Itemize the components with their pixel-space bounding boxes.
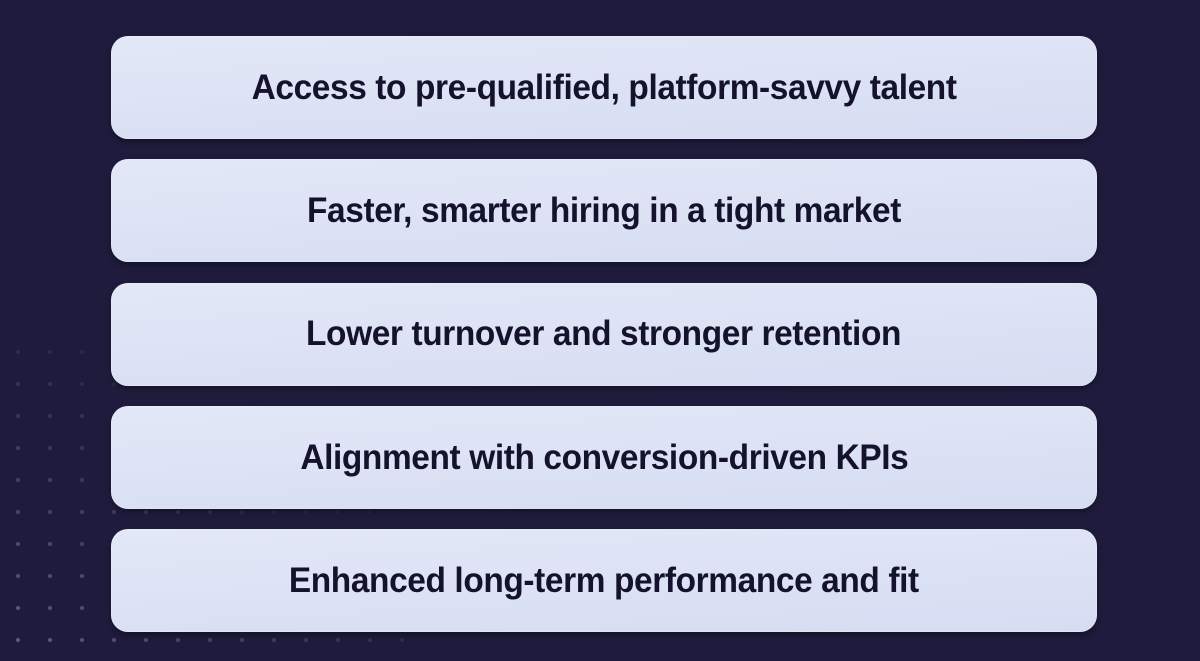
benefit-label-4: Alignment with conversion-driven KPIs — [300, 439, 908, 476]
benefit-label-3: Lower turnover and stronger retention — [306, 315, 901, 352]
benefits-slide: Access to pre-qualified, platform-savvy … — [0, 0, 1200, 661]
benefit-card-2[interactable]: Faster, smarter hiring in a tight market — [111, 159, 1097, 262]
benefit-label-5: Enhanced long-term performance and fit — [289, 562, 919, 599]
benefit-card-1[interactable]: Access to pre-qualified, platform-savvy … — [111, 36, 1097, 139]
benefit-card-3[interactable]: Lower turnover and stronger retention — [111, 283, 1097, 386]
benefit-label-2: Faster, smarter hiring in a tight market — [307, 192, 901, 229]
benefit-label-1: Access to pre-qualified, platform-savvy … — [252, 69, 957, 106]
benefit-card-5[interactable]: Enhanced long-term performance and fit — [111, 529, 1097, 632]
benefit-card-4[interactable]: Alignment with conversion-driven KPIs — [111, 406, 1097, 509]
benefits-card-stack: Access to pre-qualified, platform-savvy … — [111, 36, 1097, 632]
